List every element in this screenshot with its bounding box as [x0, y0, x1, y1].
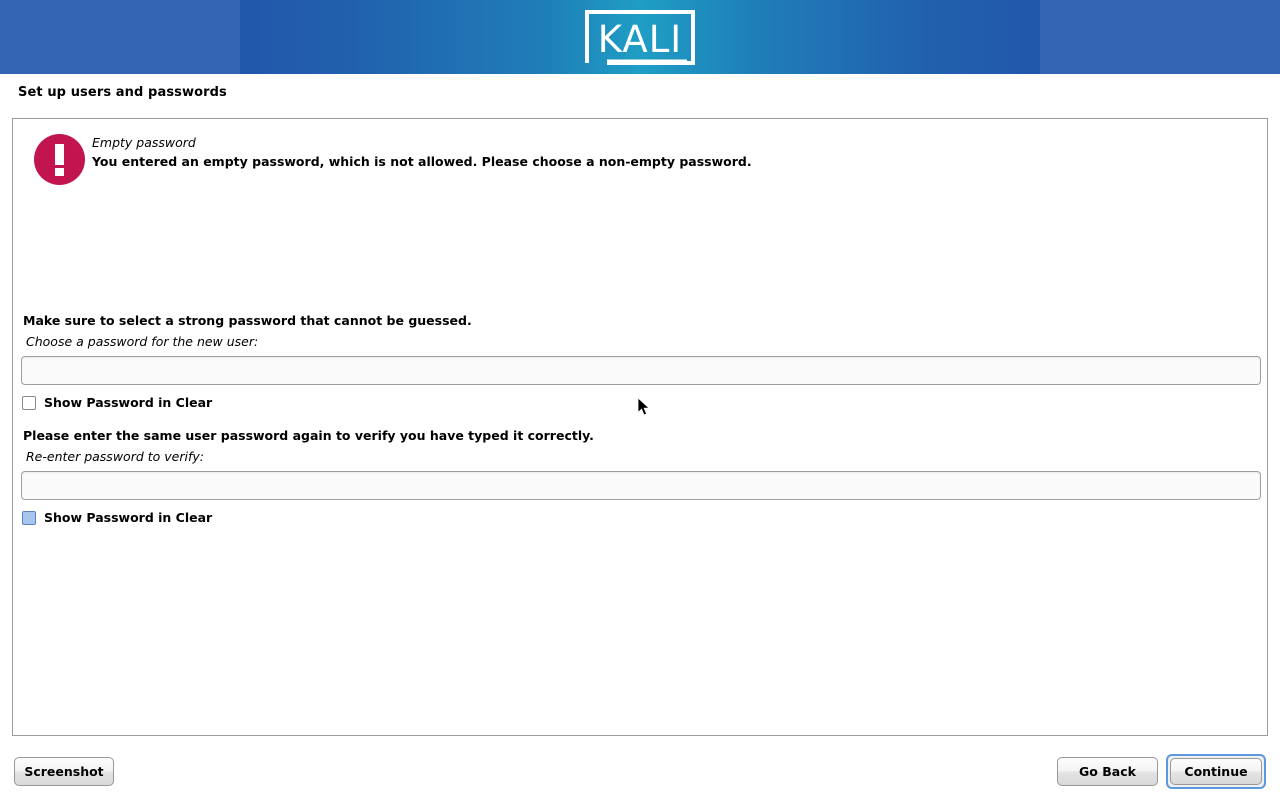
- verify-password-input[interactable]: [21, 471, 1261, 500]
- continue-button[interactable]: Continue: [1170, 758, 1262, 785]
- error-description: You entered an empty password, which is …: [92, 154, 752, 169]
- error-exclamation-icon: [34, 134, 85, 185]
- page-title: Set up users and passwords: [18, 85, 227, 100]
- kali-logo: KALI: [583, 9, 697, 66]
- password-hint: Make sure to select a strong password th…: [23, 313, 472, 328]
- show-password-checkbox-2[interactable]: [22, 511, 36, 525]
- error-title: Empty password: [92, 135, 196, 150]
- installer-content-panel: Empty password You entered an empty pass…: [12, 118, 1268, 736]
- verify-hint: Please enter the same user password agai…: [23, 428, 594, 443]
- show-password-checkbox-label-1: Show Password in Clear: [44, 395, 212, 410]
- error-message-block: Empty password You entered an empty pass…: [23, 127, 1253, 193]
- show-password-checkbox-1[interactable]: [22, 396, 36, 410]
- continue-button-focus-ring: Continue: [1166, 754, 1266, 789]
- exclamation-dot: [55, 168, 64, 176]
- mouse-pointer-icon: [637, 397, 651, 417]
- screenshot-button[interactable]: Screenshot: [14, 757, 114, 786]
- exclamation-bar: [55, 144, 64, 165]
- installer-banner: KALI: [0, 0, 1280, 74]
- show-password-checkbox-label-2: Show Password in Clear: [44, 510, 212, 525]
- verify-field-label: Re-enter password to verify:: [26, 449, 204, 464]
- password-field-label: Choose a password for the new user:: [26, 334, 258, 349]
- go-back-button[interactable]: Go Back: [1057, 757, 1158, 786]
- kali-logo-text: KALI: [598, 18, 682, 61]
- password-input[interactable]: [21, 356, 1261, 385]
